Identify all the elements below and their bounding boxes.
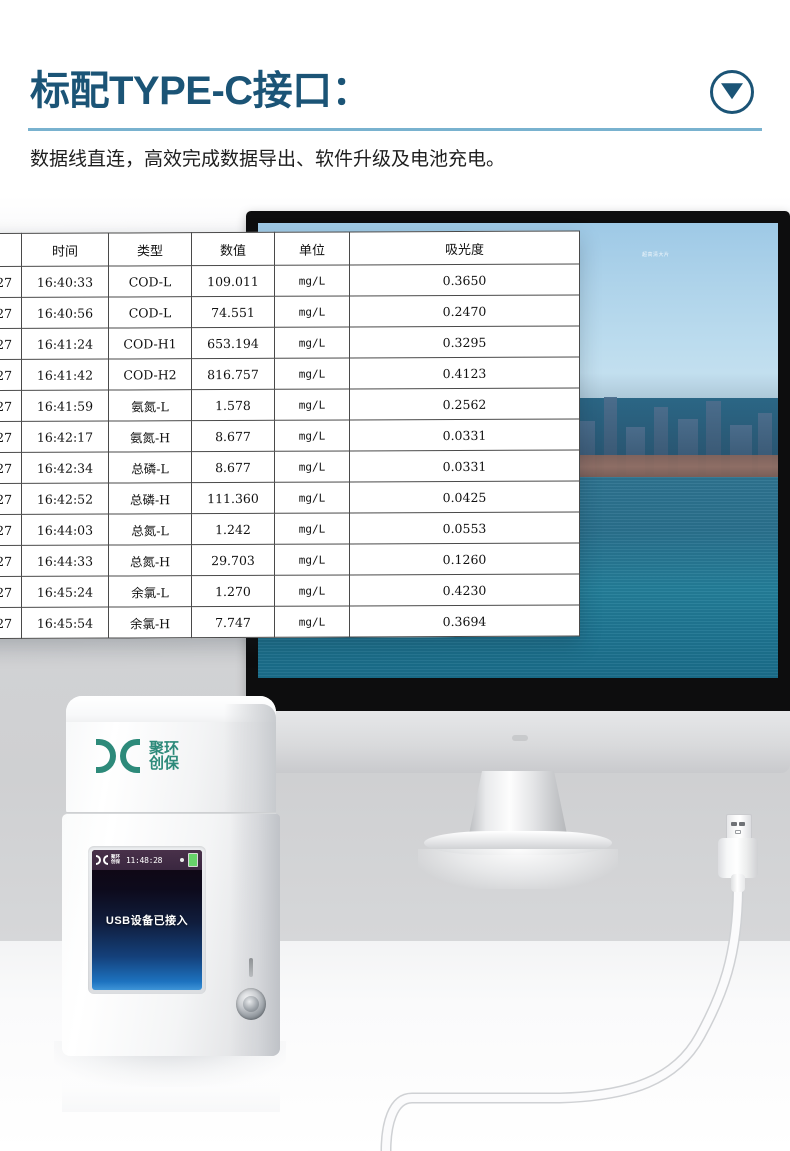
cell-value: 109.011 [192,265,275,296]
cell-value: 8.677 [192,420,275,451]
lcd-message: USB设备已接入 [92,912,202,928]
device-optical-port [236,988,266,1020]
water-quality-analyzer: 聚环 创保 聚环 [60,696,295,1056]
cell-date: 2024/6/27 [0,297,22,328]
table-head: 编号 日期 时间 类型 数值 单位 吸光度 [0,231,580,267]
cell-absorbance: 0.1260 [350,543,580,575]
table-row: 9 2024/6/27 16:44:03 总氮-L 1.242 mg/L 0.0… [0,512,580,546]
page-title: 标配TYPE-C接口： [30,58,371,116]
cell-value: 653.194 [192,327,275,358]
cell-type: 总氮-L [109,514,192,545]
cell-value: 1.270 [192,575,275,606]
cell-date: 2024/6/27 [0,421,22,452]
column-header-value: 数值 [192,232,275,265]
lcd-brand-line-2: 创保 [111,859,120,864]
device-brand-text: 聚环 创保 [149,741,179,772]
table-row: 1 2024/6/27 16:40:33 COD-L 109.011 mg/L … [0,264,580,298]
cell-absorbance: 0.4123 [350,357,580,389]
device-screen-frame: 聚环 创保 11:48:28 USB设备已接入 [88,846,206,994]
cell-value: 111.360 [192,482,275,513]
cell-date: 2024/6/27 [0,607,22,638]
monitor-stand-neck [468,771,568,839]
table-header-row: 编号 日期 时间 类型 数值 单位 吸光度 [0,231,580,267]
cell-value: 1.242 [192,513,275,544]
cell-type: COD-H2 [109,359,192,390]
cell-type: COD-L [109,266,192,297]
down-triangle-glyph [721,83,743,99]
usb-a-shell [718,838,758,878]
exported-data-panel: 编号 日期 时间 类型 数值 单位 吸光度 1 2024/6/27 16:40:… [0,230,580,639]
usb-pin [735,830,741,834]
cell-time: 16:42:17 [22,421,109,452]
table-row: 10 2024/6/27 16:44:33 总氮-H 29.703 mg/L 0… [0,543,580,577]
cell-time: 16:42:34 [22,452,109,483]
usb-pin [731,822,737,826]
table-row: 3 2024/6/27 16:41:24 COD-H1 653.194 mg/L… [0,326,580,360]
product-feature-page: 标配TYPE-C接口： 数据线直连，高效完成数据导出、软件升级及电池充电。 [0,0,790,1151]
page-subtitle: 数据线直连，高效完成数据导出、软件升级及电池充电。 [30,144,505,171]
cell-date: 2024/6/27 [0,359,22,390]
device-brand-logo: 聚环 创保 [96,734,218,778]
lcd-status-bar: 聚环 创保 11:48:28 [92,850,202,870]
column-header-time: 时间 [22,233,109,266]
cell-time: 16:44:33 [22,545,109,576]
cell-unit: mg/L [275,327,350,358]
jc-logo-right-glyph [120,739,140,773]
wallpaper-watermark: 超高清大片 [642,251,670,258]
jc-logo-right-glyph [103,855,108,865]
cell-date: 2024/6/27 [0,514,22,545]
cell-time: 16:45:54 [22,607,109,638]
cell-unit: mg/L [275,575,350,606]
cell-date: 2024/6/27 [0,266,22,297]
status-led-icon [180,858,184,862]
cell-unit: mg/L [275,420,350,451]
cell-time: 16:42:52 [22,483,109,514]
table-row: 7 2024/6/27 16:42:34 总磷-L 8.677 mg/L 0.0… [0,450,580,484]
jc-logo-left-glyph [96,739,116,773]
lcd-clock: 11:48:28 [126,856,162,865]
cell-date: 2024/6/27 [0,390,22,421]
cell-unit: mg/L [275,296,350,327]
cell-type: 氨氮-H [109,421,192,452]
table-row: 8 2024/6/27 16:42:52 总磷-H 111.360 mg/L 0… [0,481,580,515]
device-reflection [62,1056,280,1112]
usb-a-strain-relief [731,874,745,892]
cell-type: 总磷-L [109,452,192,483]
cell-absorbance: 0.0331 [350,419,580,451]
device-indicator-slot [249,958,253,977]
jc-logo-icon [96,855,109,865]
cell-unit: mg/L [275,513,350,544]
brand-line-2: 创保 [149,755,179,772]
product-scene: 超高清大片 编号 日期 时间 类型 数值 单位 [0,196,790,1151]
usb-pin [739,822,745,826]
cell-date: 2024/6/27 [0,576,22,607]
table-row: 6 2024/6/27 16:42:17 氨氮-H 8.677 mg/L 0.0… [0,419,580,453]
usb-a-connector-icon [718,814,758,888]
cell-type: 总磷-H [109,483,192,514]
lcd-brand-text: 聚环 创保 [111,855,120,864]
cell-date: 2024/6/27 [0,545,22,576]
table-row: 5 2024/6/27 16:41:59 氨氮-L 1.578 mg/L 0.2… [0,388,580,422]
cell-unit: mg/L [275,451,350,482]
cell-time: 16:41:59 [22,390,109,421]
cell-absorbance: 0.0425 [350,481,580,513]
cell-value: 816.757 [192,358,275,389]
device-lcd: 聚环 创保 11:48:28 USB设备已接入 [92,850,202,990]
cell-absorbance: 0.3295 [350,326,580,358]
cell-date: 2024/6/27 [0,452,22,483]
lcd-brand-logo: 聚环 创保 [96,855,120,865]
cell-date: 2024/6/27 [0,328,22,359]
usb-a-metal-tip [726,814,752,841]
table-body: 1 2024/6/27 16:40:33 COD-L 109.011 mg/L … [0,264,580,639]
cell-type: 余氯-H [109,607,192,638]
cell-type: COD-H1 [109,328,192,359]
cell-unit: mg/L [275,389,350,420]
cell-value: 29.703 [192,544,275,575]
cell-value: 74.551 [192,296,275,327]
cell-time: 16:44:03 [22,514,109,545]
cell-unit: mg/L [275,544,350,575]
cell-absorbance: 0.3694 [350,605,580,637]
monitor-base-reflection [418,849,618,889]
device-body-side-shading [230,814,280,1056]
header-divider [28,128,762,131]
table-row: 11 2024/6/27 16:45:24 余氯-L 1.270 mg/L 0.… [0,574,580,608]
cell-time: 16:40:56 [22,297,109,328]
cell-time: 16:40:33 [22,266,109,297]
cell-type: 余氯-L [109,576,192,607]
cell-absorbance: 0.2562 [350,388,580,420]
cell-type: 氨氮-L [109,390,192,421]
monitor-logo [512,735,528,741]
circle-down-triangle-icon [710,70,754,114]
cell-time: 16:41:42 [22,359,109,390]
cell-type: 总氮-H [109,545,192,576]
cell-absorbance: 0.0553 [350,512,580,544]
battery-full-icon [188,853,198,867]
table-row: 2 2024/6/27 16:40:56 COD-L 74.551 mg/L 0… [0,295,580,329]
cell-type: COD-L [109,297,192,328]
cell-absorbance: 0.2470 [350,295,580,327]
device-cap-side-shading [224,704,276,814]
cell-absorbance: 0.4230 [350,574,580,606]
cell-unit: mg/L [275,482,350,513]
table-row: 12 2024/6/27 16:45:54 余氯-H 7.747 mg/L 0.… [0,605,580,639]
table-row: 4 2024/6/27 16:41:42 COD-H2 816.757 mg/L… [0,357,580,391]
jc-logo-icon [96,739,142,773]
jc-logo-left-glyph [96,855,101,865]
measurement-table: 编号 日期 时间 类型 数值 单位 吸光度 1 2024/6/27 16:40:… [0,230,580,639]
page-header: 标配TYPE-C接口： 数据线直连，高效完成数据导出、软件升级及电池充电。 [0,0,790,200]
cell-time: 16:45:24 [22,576,109,607]
cell-unit: mg/L [275,265,350,296]
cell-value: 7.747 [192,606,275,637]
cell-absorbance: 0.0331 [350,450,580,482]
cell-unit: mg/L [275,606,350,637]
cell-value: 8.677 [192,451,275,482]
monitor-chin [246,711,790,773]
column-header-date: 日期 [0,233,22,266]
cell-date: 2024/6/27 [0,483,22,514]
column-header-unit: 单位 [275,232,350,265]
cell-absorbance: 0.3650 [350,264,580,296]
cell-time: 16:41:24 [22,328,109,359]
cell-unit: mg/L [275,358,350,389]
cell-value: 1.578 [192,389,275,420]
column-header-type: 类型 [109,233,192,266]
column-header-absorbance: 吸光度 [350,231,580,265]
